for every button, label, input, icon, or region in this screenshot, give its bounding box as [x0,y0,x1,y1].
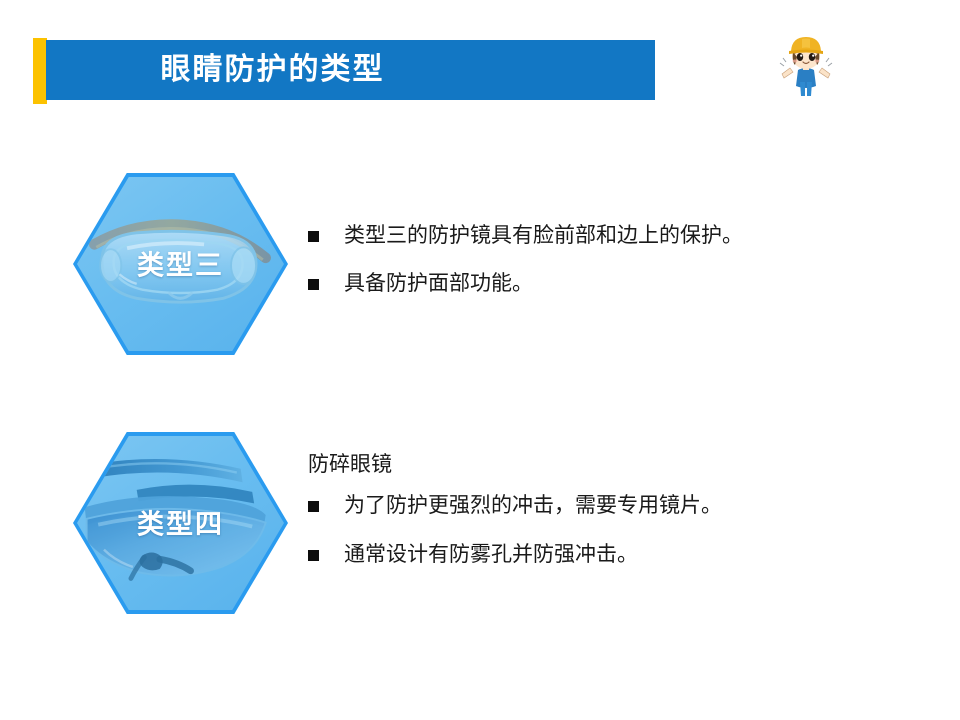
hexagon-fill: 类型四 [77,436,284,610]
safety-goggles-image [77,177,284,351]
section-heading: 防碎眼镜 [308,452,928,478]
bullet-item: 为了防护更强烈的冲击，需要专用镜片。 [308,492,928,520]
title-banner: 眼睛防护的类型 [46,40,655,100]
square-bullet-icon [308,550,319,561]
square-bullet-icon [308,501,319,512]
bullet-text: 为了防护更强烈的冲击，需要专用镜片。 [344,492,722,520]
type-three-hexagon-card: 类型三 [73,173,288,355]
bullet-item: 具备防护面部功能。 [308,270,928,298]
slide-title-bar: 眼睛防护的类型 [33,38,655,104]
square-bullet-icon [308,231,319,242]
type-four-hexagon-card: 类型四 [73,432,288,614]
bullet-text: 通常设计有防雾孔并防强冲击。 [344,541,638,569]
square-bullet-icon [308,279,319,290]
bullet-text: 具备防护面部功能。 [344,270,533,298]
page-title: 眼睛防护的类型 [161,55,385,85]
wraparound-safety-glasses-image [77,436,284,610]
bullet-item: 类型三的防护镜具有脸前部和边上的保护。 [308,222,928,250]
title-accent-bar [33,38,47,104]
bullet-item: 通常设计有防雾孔并防强冲击。 [308,541,928,569]
bullet-text: 类型三的防护镜具有脸前部和边上的保护。 [344,222,743,250]
type-three-text-block: 类型三的防护镜具有脸前部和边上的保护。 具备防护面部功能。 [308,222,928,319]
safety-worker-mascot-icon [778,32,834,98]
type-four-text-block: 防碎眼镜 为了防护更强烈的冲击，需要专用镜片。 通常设计有防雾孔并防强冲击。 [308,452,928,589]
hexagon-fill: 类型三 [77,177,284,351]
